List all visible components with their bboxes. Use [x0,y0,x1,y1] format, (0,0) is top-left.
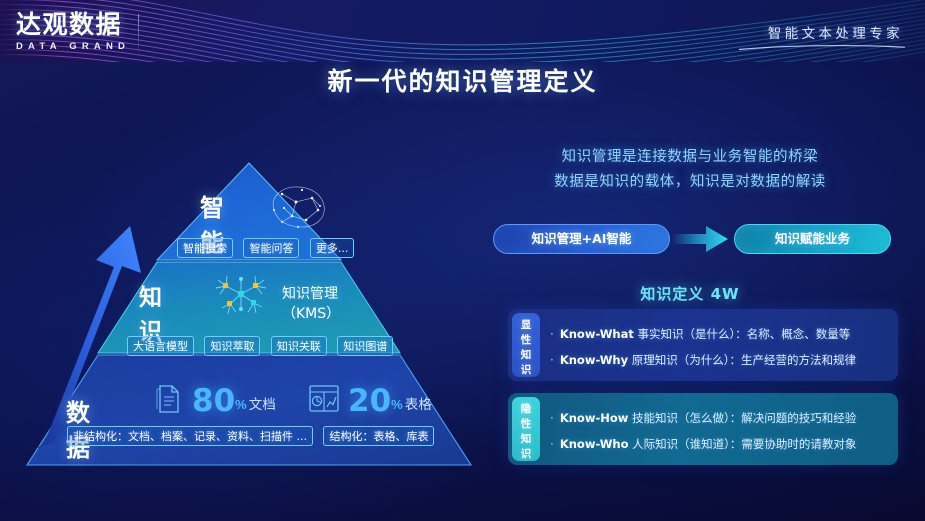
tab-char: 隐 [512,402,540,417]
header-slogan: 智能文本处理专家 [768,22,903,42]
tier-tags-data: 非结构化：文档、档案、记录、资料、扫描件 ... 结构化：表格、库表 [64,426,437,446]
card-bullet: ·Know-How 技能知识（怎么做）：解决问题的技巧和经验 [550,410,856,426]
tag-item[interactable]: 大语言模型 [127,336,194,356]
bullet-cn: 事实知识（是什么）：名称、概念、数量等 [638,327,851,341]
stat-tables: 20%表格 [348,383,432,419]
stat-percent: % [391,397,403,412]
tag-item[interactable]: 知识萃取 [204,336,260,356]
knowledge-graph-icon [210,270,272,318]
page-title: 新一代的知识管理定义 [0,62,925,98]
header-bar: 达观数据 DATA GRAND 智能文本处理专家 [0,0,925,62]
stat-value: 80 [192,383,235,419]
stat-value: 20 [348,383,391,419]
kms-label: 知识管理（KMS） [282,283,340,323]
card-bullet: ·Know-Who 人际知识（谁知道）：需要协助时的请教对象 [550,436,856,452]
dashboard-chart-icon [308,384,340,414]
tab-char: 显 [512,318,540,333]
tab-char: 知 [512,432,540,447]
fourw-title: 知识定义 4W [470,283,910,304]
tab-char: 知 [512,348,540,363]
stat-unit: 文档 [249,397,276,413]
statement-line: 知识管理是连接数据与业务智能的桥梁 [470,145,910,170]
logo-divider [138,14,139,56]
bullet-dot-icon: · [550,411,554,425]
flow-row: 知识管理+AI智能 知识赋能业务 [470,224,910,258]
bullet-dot-icon: · [550,437,554,451]
card-tab-label: 隐 性 知 识 [512,397,540,461]
tab-char: 性 [512,417,540,432]
bullet-cn: 原理知识（为什么）：生产经营的方法和规律 [632,353,856,367]
stat-documents: 80%文档 [192,383,276,419]
bullet-dot-icon: · [550,327,554,341]
knowledge-card-tacit: 隐 性 知 识 ·Know-How 技能知识（怎么做）：解决问题的技巧和经验 ·… [508,393,898,465]
document-icon [156,383,182,415]
bullet-en: Know-What [560,327,634,341]
brand-name-en: DATA GRAND [16,41,206,52]
tag-item[interactable]: 更多... [310,238,355,258]
card-bullet: ·Know-Why 原理知识（为什么）：生产经营的方法和规律 [550,352,856,368]
bullet-en: Know-Why [560,353,628,367]
bullet-cn: 技能知识（怎么做）：解决问题的技巧和经验 [632,411,856,425]
slogan-underline-icon [737,44,907,51]
bullet-en: Know-How [560,411,629,425]
bullet-cn: 人际知识（谁知道）：需要协助时的请教对象 [632,437,856,451]
tier-tags-knowledge: 大语言模型 知识萃取 知识关联 知识图谱 [124,336,396,356]
slide-canvas: 达观数据 DATA GRAND 智能文本处理专家 新一代的知识管理定义 [0,0,925,521]
right-arrow-icon [670,223,732,255]
brand-name-cn: 达观数据 [16,12,206,38]
knowledge-card-explicit: 显 性 知 识 ·Know-What 事实知识（是什么）：名称、概念、数量等 ·… [508,309,898,381]
tier-tags-intelligence: 智能搜索 智能问答 更多... [174,238,357,258]
flow-from-pill[interactable]: 知识管理+AI智能 [493,224,670,254]
stat-percent: % [235,397,247,412]
card-tab-label: 显 性 知 识 [512,313,540,377]
tab-char: 识 [512,363,540,378]
tag-item[interactable]: 结构化：表格、库表 [323,426,434,446]
brain-network-icon [262,180,334,232]
tab-char: 性 [512,333,540,348]
tag-item[interactable]: 知识关联 [271,336,327,356]
statement-line: 数据是知识的载体，知识是对数据的解读 [470,170,910,195]
card-bullet: ·Know-What 事实知识（是什么）：名称、概念、数量等 [550,326,850,342]
statement-block: 知识管理是连接数据与业务智能的桥梁 数据是知识的载体，知识是对数据的解读 [470,145,910,195]
tag-item[interactable]: 知识图谱 [337,336,393,356]
knowledge-pyramid: 智能 智能搜索 智能问答 [14,150,484,480]
tag-item[interactable]: 非结构化：文档、档案、记录、资料、扫描件 ... [67,426,313,446]
tab-char: 识 [512,447,540,462]
stat-unit: 表格 [405,397,432,413]
brand-logo: 达观数据 DATA GRAND [16,12,206,52]
bullet-en: Know-Who [560,437,629,451]
tag-item[interactable]: 智能搜索 [177,238,233,258]
flow-to-pill[interactable]: 知识赋能业务 [734,224,891,254]
bullet-dot-icon: · [550,353,554,367]
tag-item[interactable]: 智能问答 [243,238,299,258]
